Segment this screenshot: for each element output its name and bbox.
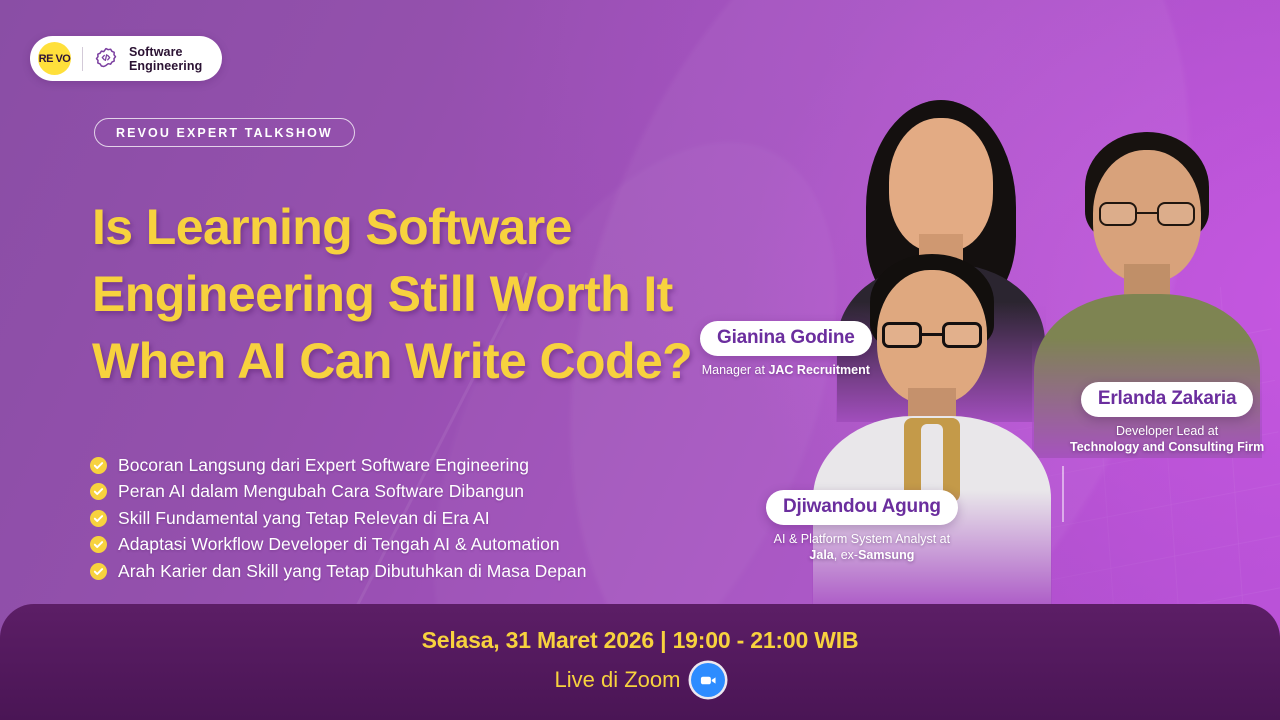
list-item: Skill Fundamental yang Tetap Relevan di …: [90, 505, 710, 532]
speaker-divider-line: [1062, 466, 1064, 522]
speaker-name: Djiwandou Agung: [766, 490, 958, 525]
list-item-label: Bocoran Langsung dari Expert Software En…: [118, 455, 529, 476]
webinar-poster: RE VO Software Engineering REVOU EXPERT …: [0, 0, 1280, 720]
check-circle-icon: [90, 510, 107, 527]
speaker-name: Gianina Godine: [700, 321, 872, 356]
event-datetime: Selasa, 31 Maret 2026 | 19:00 - 21:00 WI…: [422, 627, 859, 654]
list-item-label: Skill Fundamental yang Tetap Relevan di …: [118, 508, 490, 529]
speaker-role-prefix: Manager at: [702, 363, 769, 377]
check-circle-icon: [90, 457, 107, 474]
speaker-card-gianina-godine: Gianina Godine Manager at JAC Recruitmen…: [700, 321, 872, 378]
event-platform: Live di Zoom: [555, 663, 726, 697]
list-item-label: Adaptasi Workflow Developer di Tengah AI…: [118, 534, 560, 555]
list-item: Bocoran Langsung dari Expert Software En…: [90, 452, 710, 479]
speaker-company: Jala: [809, 548, 833, 562]
speaker-role-suffix: , ex-: [834, 548, 858, 562]
check-circle-icon: [90, 536, 107, 553]
list-item: Arah Karier dan Skill yang Tetap Dibutuh…: [90, 558, 710, 585]
benefits-list: Bocoran Langsung dari Expert Software En…: [90, 452, 710, 585]
check-circle-icon: [90, 563, 107, 580]
brand-logo: RE VO Software Engineering: [30, 36, 222, 81]
list-item: Adaptasi Workflow Developer di Tengah AI…: [90, 532, 710, 559]
revou-logo-mark-text: RE VO: [39, 55, 71, 63]
zoom-video-camera-icon: [691, 663, 725, 697]
list-item: Peran AI dalam Mengubah Cara Software Di…: [90, 479, 710, 506]
event-footer-bar: Selasa, 31 Maret 2026 | 19:00 - 21:00 WI…: [0, 604, 1280, 720]
speaker-card-djiwandou-agung: Djiwandou Agung AI & Platform System Ana…: [766, 490, 958, 563]
logo-divider: [82, 47, 83, 71]
speaker-role-prefix: Developer Lead at: [1116, 424, 1218, 438]
revou-logo-mark: RE VO: [38, 42, 71, 75]
code-brackets-icon: [94, 47, 118, 71]
speaker-role: Manager at JAC Recruitment: [700, 362, 872, 378]
list-item-label: Arah Karier dan Skill yang Tetap Dibutuh…: [118, 561, 587, 582]
brand-logo-text: Software Engineering: [129, 45, 202, 73]
speaker-card-erlanda-zakaria: Erlanda Zakaria Developer Lead atTechnol…: [1070, 382, 1264, 455]
speaker-role-prefix: AI & Platform System Analyst at: [774, 532, 950, 546]
eyebrow-badge: REVOU EXPERT TALKSHOW: [94, 118, 355, 147]
speaker-role: AI & Platform System Analyst atJala, ex-…: [766, 531, 958, 563]
speaker-company-previous: Samsung: [858, 548, 914, 562]
speaker-company: JAC Recruitment: [768, 363, 869, 377]
speaker-name: Erlanda Zakaria: [1081, 382, 1254, 417]
speaker-role: Developer Lead atTechnology and Consulti…: [1070, 423, 1264, 455]
event-platform-label: Live di Zoom: [555, 667, 681, 693]
speaker-company: Technology and Consulting Firm: [1070, 440, 1264, 454]
check-circle-icon: [90, 483, 107, 500]
list-item-label: Peran AI dalam Mengubah Cara Software Di…: [118, 481, 524, 502]
page-title: Is Learning Software Engineering Still W…: [92, 194, 732, 395]
